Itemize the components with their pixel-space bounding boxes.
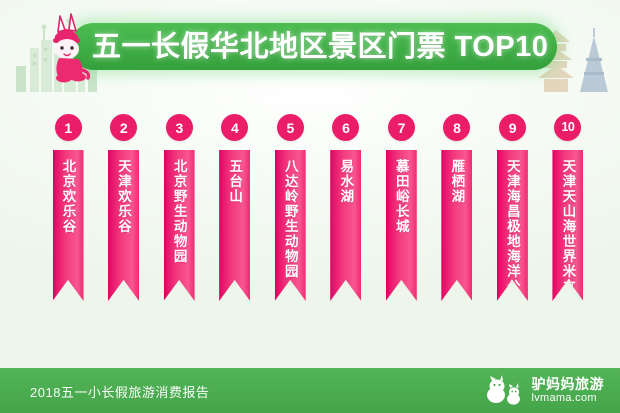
report-title: 2018五一小长假旅游消费报告 [30,382,209,401]
ribbon-label-4: 五台山 [219,150,250,301]
ribbon-5[interactable]: 八达岭野生动物园 [275,150,306,301]
ribbon-label-8: 雁栖湖 [441,150,472,301]
rank-badge-7: 7 [388,114,415,141]
footer-bar: 2018五一小长假旅游消费报告 驴妈妈旅游 lvmama.com [0,368,620,413]
ribbon-label-1: 北京欢乐谷 [53,150,84,301]
brand-name-cn: 驴妈妈旅游 [532,377,605,391]
rank-item-3[interactable]: 3 北京野生动物园 [159,114,199,301]
lvmama-donkey-mascot-icon [38,12,94,84]
rank-item-6[interactable]: 6 易水湖 [326,114,366,301]
two-rabbits-logo-icon [484,375,526,406]
rank-badge-6: 6 [332,114,359,141]
ribbon-label-2: 天津欢乐谷 [108,150,139,301]
ribbon-label-6: 易水湖 [330,150,361,301]
rank-item-8[interactable]: 8 雁栖湖 [437,114,477,301]
rank-badge-4: 4 [221,114,248,141]
rank-item-5[interactable]: 5 八达岭野生动物园 [270,114,310,301]
ribbon-6[interactable]: 易水湖 [330,150,361,301]
page-title: 五一长假华北地区景区门票 TOP10 [92,27,552,67]
rank-item-1[interactable]: 1 北京欢乐谷 [48,114,88,301]
ribbon-2[interactable]: 天津欢乐谷 [108,150,139,301]
brand-name-en: lvmama.com [532,393,605,404]
ribbon-3[interactable]: 北京野生动物园 [164,150,195,301]
rank-badge-5: 5 [277,114,304,141]
rank-badge-9: 9 [499,114,526,141]
ribbon-10[interactable]: 天津天山海世界米立方 [552,150,583,301]
ribbon-8[interactable]: 雁栖湖 [441,150,472,301]
ribbon-4[interactable]: 五台山 [219,150,250,301]
rank-badge-10: 10 [554,114,581,141]
rank-badge-8: 8 [443,114,470,141]
rank-item-7[interactable]: 7 慕田峪长城 [381,114,421,301]
ribbon-label-5: 八达岭野生动物园 [275,150,306,301]
ribbon-label-10: 天津天山海世界米立方 [552,150,583,301]
ribbon-label-7: 慕田峪长城 [386,150,417,301]
ranking-list: 1 北京欢乐谷 2 天津欢乐谷 3 北京野生动物园 4 五台山 5 [48,114,588,314]
rank-badge-3: 3 [166,114,193,141]
ribbon-1[interactable]: 北京欢乐谷 [53,150,84,301]
rank-badge-2: 2 [110,114,137,141]
brand-logo[interactable]: 驴妈妈旅游 lvmama.com [484,374,605,407]
ribbon-label-9: 天津海昌极地海洋公园 [497,150,528,301]
ribbon-label-3: 北京野生动物园 [164,150,195,301]
rank-badge-1: 1 [55,114,82,141]
ribbon-9[interactable]: 天津海昌极地海洋公园 [497,150,528,301]
ribbon-7[interactable]: 慕田峪长城 [386,150,417,301]
infographic-canvas: 五一长假华北地区景区门票 TOP10 1 北京欢乐谷 2 天津欢乐谷 3 北京野… [0,0,620,413]
rank-item-9[interactable]: 9 天津海昌极地海洋公园 [492,114,532,301]
rank-item-10[interactable]: 10 天津天山海世界米立方 [548,114,588,301]
rank-item-2[interactable]: 2 天津欢乐谷 [104,114,144,301]
rank-item-4[interactable]: 4 五台山 [215,114,255,301]
